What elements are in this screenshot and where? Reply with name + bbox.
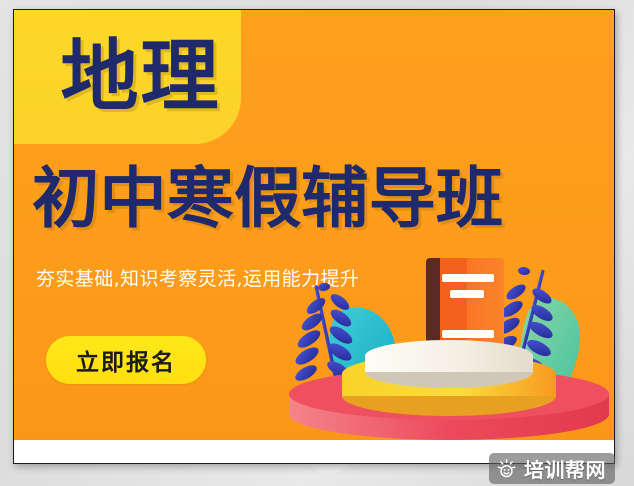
subject-badge: 地理 — [14, 10, 241, 144]
subject-badge-label: 地理 — [60, 38, 220, 116]
enroll-now-button[interactable]: 立即报名 — [46, 336, 206, 384]
page-title: 初中寒假辅导班 — [32, 166, 503, 232]
sun-face-icon — [496, 458, 517, 479]
enroll-now-label: 立即报名 — [76, 343, 176, 377]
watermark: 培训帮网 — [489, 453, 615, 484]
watermark-label: 培训帮网 — [524, 454, 606, 483]
book-podium-illustration — [284, 246, 614, 440]
poster-canvas: 地理 初中寒假辅导班 夯实基础,知识考察灵活,运用能力提升 立即报名 — [14, 10, 614, 440]
poster-card: 地理 初中寒假辅导班 夯实基础,知识考察灵活,运用能力提升 立即报名 — [13, 9, 615, 464]
